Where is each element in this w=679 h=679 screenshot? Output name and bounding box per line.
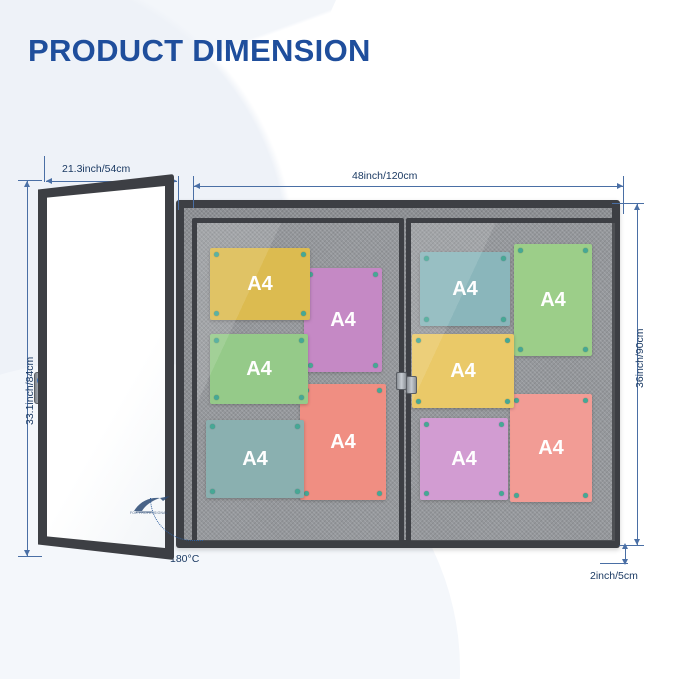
dim-tick	[193, 176, 194, 208]
dimension-label-door-swing: 180°C	[170, 553, 199, 565]
page-title: PRODUCT DIMENSION	[28, 33, 371, 69]
dimension-label-open-door-height: 33.1inch/84cm	[24, 357, 36, 425]
dim-tick	[623, 176, 624, 214]
dimension-label-thickness: 2inch/5cm	[590, 570, 638, 582]
cabinet-body: A4 A4 A4 A4	[176, 200, 620, 548]
cabinet-inner-frame: A4 A4 A4 A4	[184, 208, 612, 540]
dim-arrow-up-icon	[24, 181, 30, 187]
open-door-glass	[47, 186, 165, 548]
sliding-door-right[interactable]	[406, 218, 620, 546]
dim-arrow-up-icon	[622, 543, 628, 549]
door-lock-right-icon[interactable]	[406, 376, 417, 394]
dim-arrow-down-icon	[622, 559, 628, 565]
product-dimension-diagram: PRODUCT DIMENSION A4 A4 A4	[0, 0, 679, 679]
dim-tick	[178, 176, 179, 210]
sliding-door-left[interactable]	[192, 218, 404, 546]
dim-arrow-left-icon	[194, 183, 200, 189]
dimension-line-width	[194, 186, 623, 187]
dim-arrow-down-icon	[24, 550, 30, 556]
dimension-label-width: 48inch/120cm	[352, 170, 417, 182]
dim-arrow-right-icon	[617, 183, 623, 189]
glass-reflection	[411, 223, 615, 541]
dimension-label-cabinet-height: 36inch/90cm	[634, 328, 646, 388]
glass-reflection	[197, 223, 399, 541]
dim-arrow-up-icon	[634, 204, 640, 210]
dim-arrow-down-icon	[634, 539, 640, 545]
